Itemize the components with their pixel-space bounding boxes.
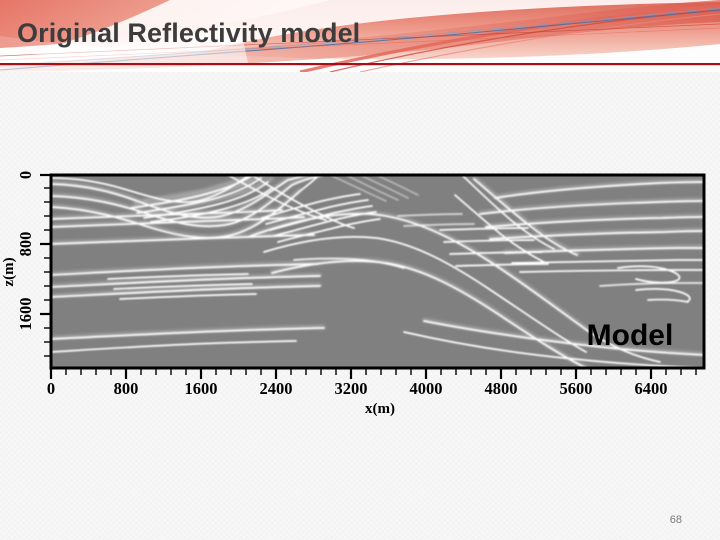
- y-tick-label: 800: [16, 232, 35, 257]
- reflectivity-model-plot: 0 800 1600 2400 3200 4000 4800 5600 6400…: [0, 0, 720, 540]
- x-tick-label: 3200: [335, 379, 368, 398]
- x-axis-tick-labels: 0 800 1600 2400 3200 4000 4800 5600 6400: [47, 379, 668, 398]
- x-tick-label: 800: [114, 379, 139, 398]
- y-axis: [40, 175, 51, 356]
- plot-annotation-model: Model: [587, 319, 674, 352]
- x-tick-label: 1600: [185, 379, 218, 398]
- y-tick-label: 0: [16, 171, 35, 179]
- x-tick-label: 4800: [485, 379, 518, 398]
- slide-page-number: 68: [670, 514, 682, 526]
- x-tick-label: 2400: [260, 379, 293, 398]
- reflectivity-model-figure: 0 800 1600 2400 3200 4000 4800 5600 6400…: [0, 0, 720, 540]
- x-tick-label: 0: [47, 379, 55, 398]
- y-tick-label: 1600: [16, 298, 35, 331]
- page-title: Original Reflectivity model: [17, 18, 360, 49]
- x-axis: [51, 369, 696, 379]
- slide-canvas: Original Reflectivity model: [0, 0, 720, 540]
- x-tick-label: 5600: [560, 379, 593, 398]
- x-axis-label: x(m): [365, 401, 395, 417]
- y-axis-label: z(m): [1, 257, 17, 286]
- x-tick-label: 4000: [410, 379, 443, 398]
- y-axis-tick-labels: 0 800 1600: [16, 171, 35, 331]
- x-tick-label: 6400: [635, 379, 668, 398]
